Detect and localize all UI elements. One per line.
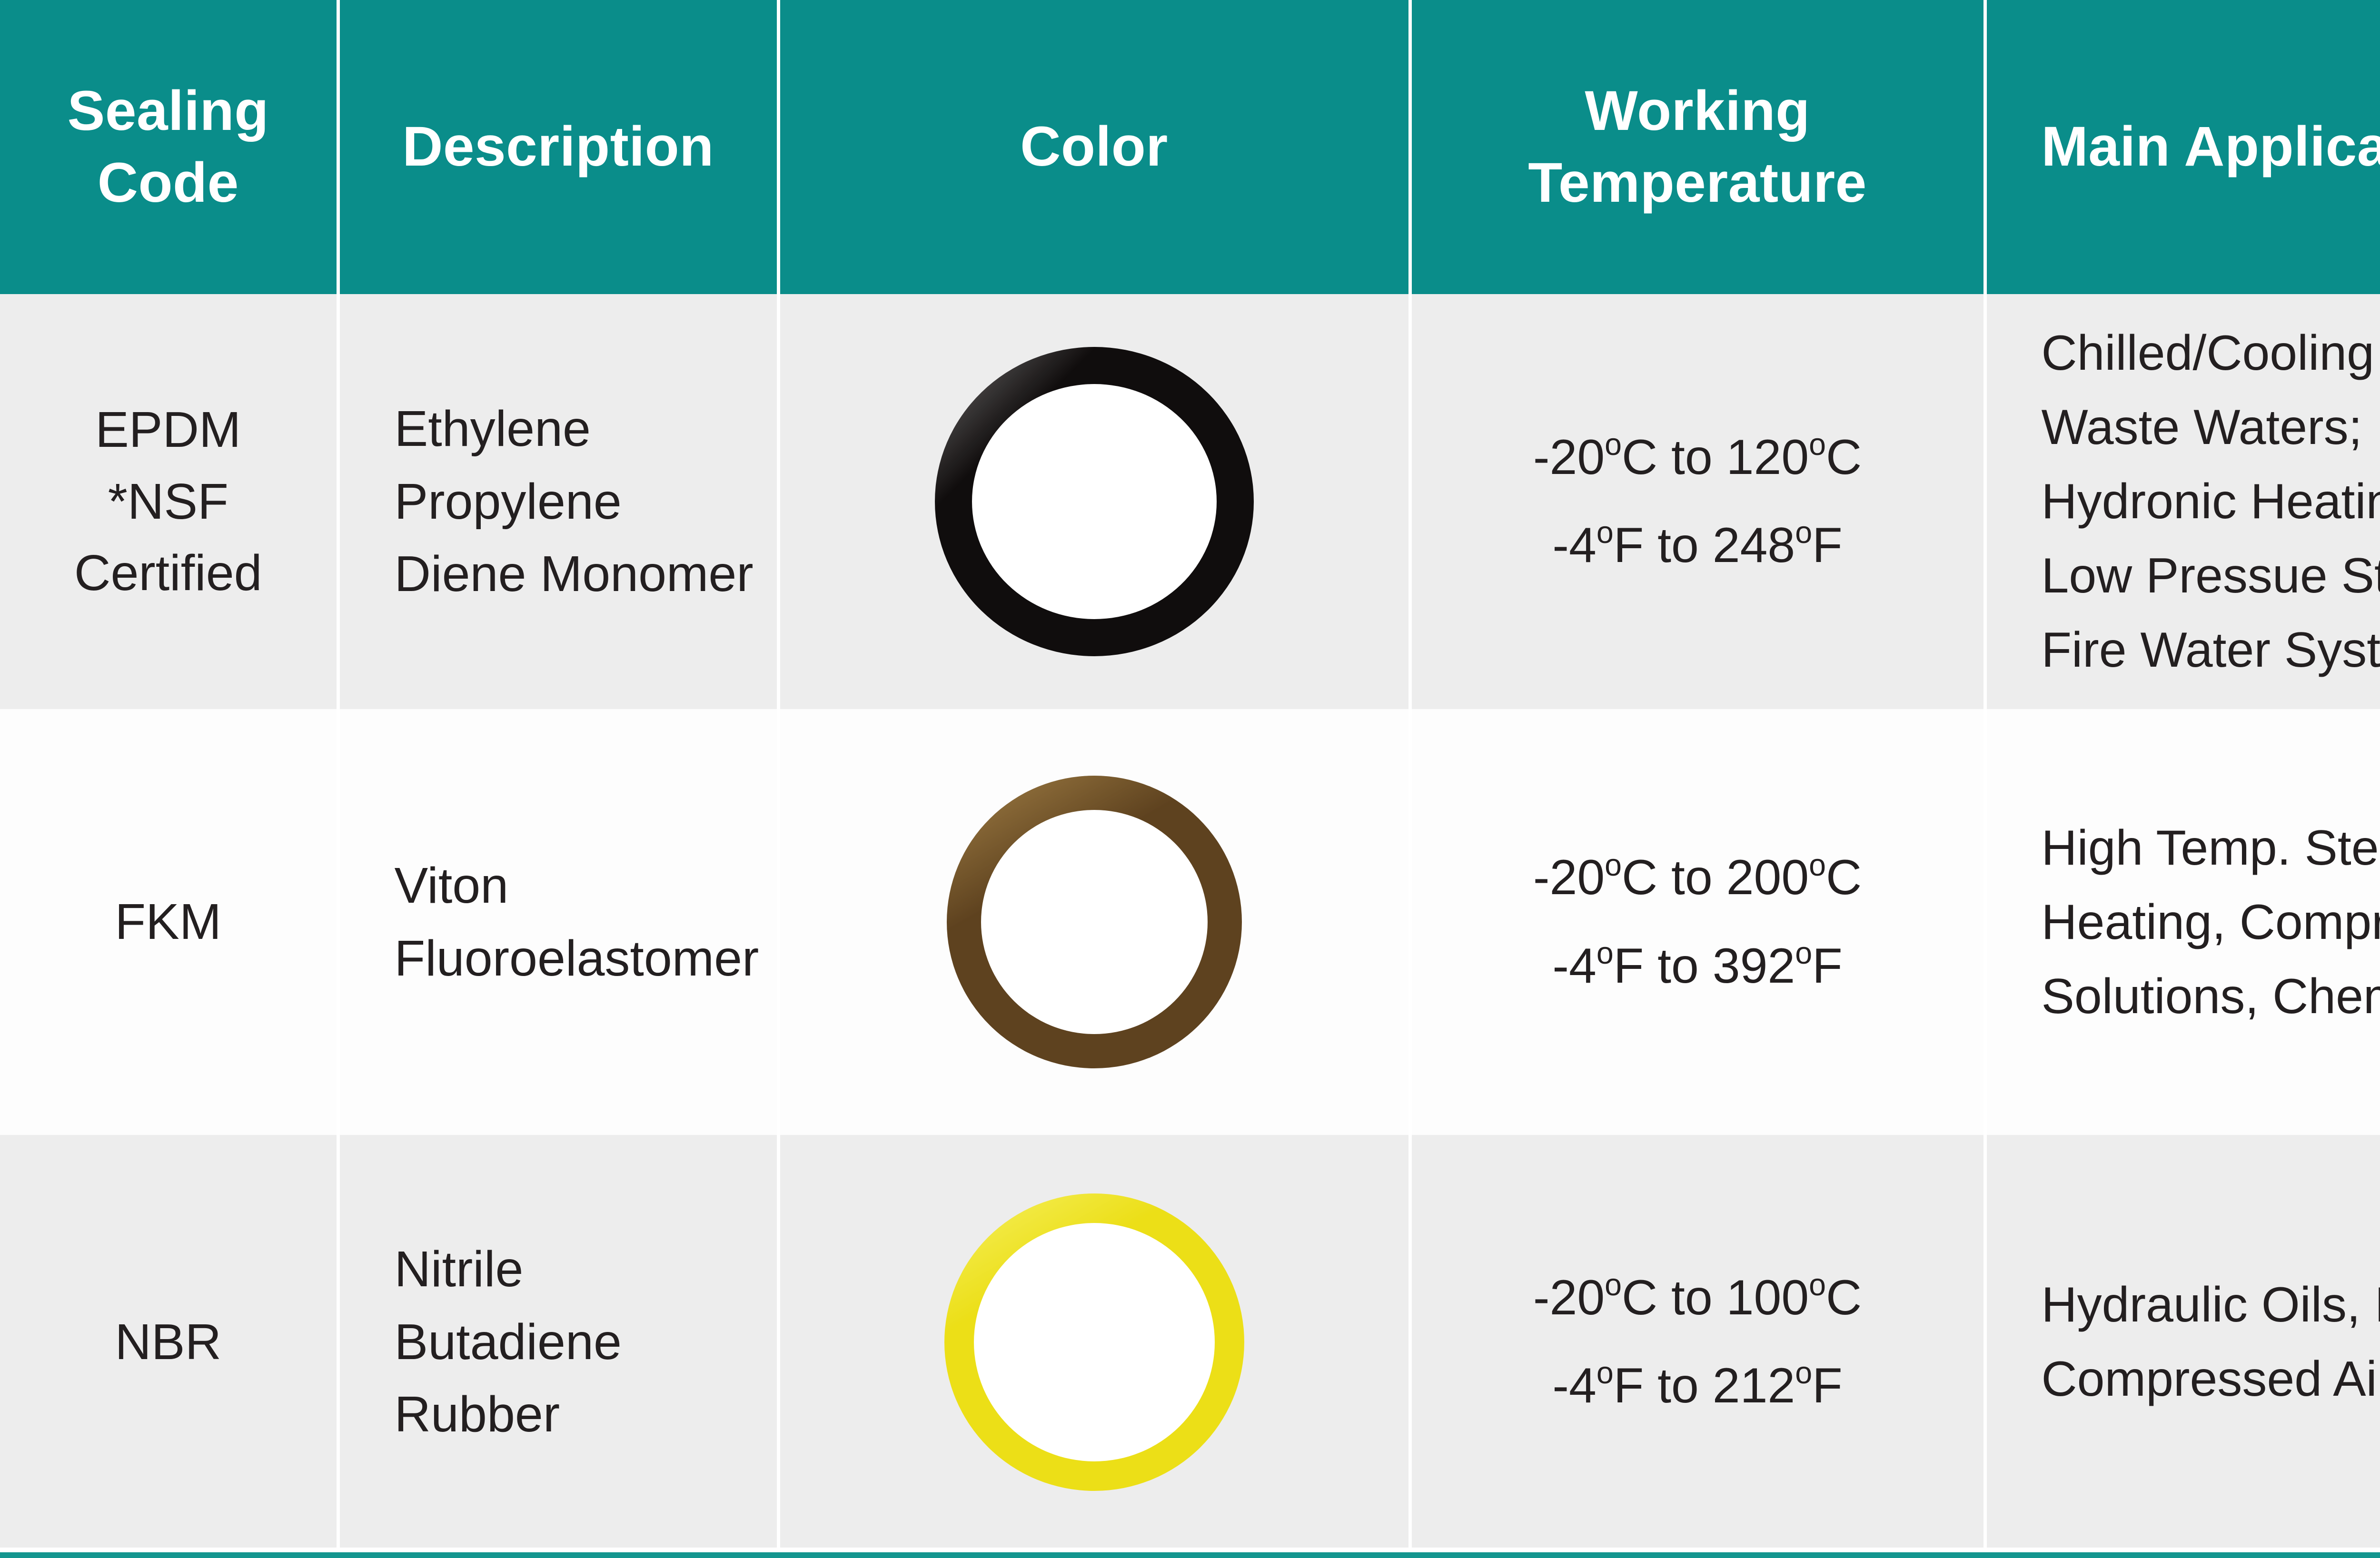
brown-o-ring-icon bbox=[947, 776, 1242, 1068]
temp-value: F to 212 bbox=[1614, 1358, 1795, 1413]
cell-sealing-code: FKM bbox=[0, 709, 338, 1135]
column-header-description: Description bbox=[338, 0, 778, 294]
o-ring-image-container bbox=[780, 709, 1408, 1135]
temp-value: F to 392 bbox=[1614, 938, 1795, 994]
degree-symbol: o bbox=[1809, 1268, 1826, 1302]
description-line: Rubber bbox=[395, 1378, 764, 1451]
header-label-line1: Color bbox=[791, 111, 1398, 183]
description-line: Viton bbox=[395, 849, 764, 922]
temp-value: C to 200 bbox=[1622, 850, 1809, 905]
degree-symbol: o bbox=[1795, 1356, 1812, 1390]
medium-line: Low Pressue Steam; bbox=[2042, 539, 2380, 613]
sealing-material-comparison-table: Sealing Code Description Color Working T… bbox=[0, 0, 2380, 1558]
cell-color bbox=[778, 1135, 1410, 1549]
temperature-celsius: -20oC to 200oC bbox=[1424, 834, 1971, 922]
degree-symbol: o bbox=[1809, 427, 1826, 462]
temp-unit: F bbox=[1812, 1358, 1843, 1413]
black-o-ring-icon bbox=[935, 347, 1254, 656]
temp-value: -20 bbox=[1533, 850, 1605, 905]
temperature-celsius: -20oC to 100oC bbox=[1424, 1254, 1971, 1342]
medium-line: Chilled/Cooling Water; bbox=[2042, 316, 2380, 390]
cell-description: Nitrile Butadiene Rubber bbox=[338, 1135, 778, 1549]
cell-description: Viton Fluoroelastomer bbox=[338, 709, 778, 1135]
sealing-code-primary: FKM bbox=[12, 886, 324, 958]
medium-line: Solutions, Chemicals, Inert Gases. bbox=[2042, 959, 2380, 1034]
table-row-nbr: NBR Nitrile Butadiene Rubber -20oC to 10… bbox=[0, 1135, 2380, 1549]
temp-value: C to 100 bbox=[1622, 1270, 1809, 1325]
column-header-main-applicable-medium: Main Applicable Medium bbox=[1985, 0, 2380, 294]
medium-line: Compressed Air, Lubricants. bbox=[2042, 1342, 2380, 1416]
degree-symbol: o bbox=[1597, 515, 1614, 550]
cell-color bbox=[778, 709, 1410, 1135]
degree-symbol: o bbox=[1605, 1268, 1622, 1302]
header-row: Sealing Code Description Color Working T… bbox=[0, 0, 2380, 294]
sealing-code-primary: NBR bbox=[12, 1306, 324, 1378]
temp-value: -4 bbox=[1552, 1358, 1596, 1413]
cell-working-temperature: -20oC to 120oC -4oF to 248oF bbox=[1410, 294, 1985, 709]
header-label-line1: Sealing bbox=[10, 75, 326, 147]
cell-sealing-code: EPDM *NSF Certified bbox=[0, 294, 338, 709]
temperature-fahrenheit: -4oF to 392oF bbox=[1424, 922, 1971, 1010]
medium-line: Hydraulic Oils, Inert Gases, bbox=[2042, 1268, 2380, 1342]
degree-symbol: o bbox=[1795, 936, 1812, 970]
table-body: EPDM *NSF Certified Ethylene Propylene D… bbox=[0, 294, 2380, 1549]
column-header-working-temperature: Working Temperature bbox=[1410, 0, 1985, 294]
table-header: Sealing Code Description Color Working T… bbox=[0, 0, 2380, 294]
sealing-specification-table: Sealing Code Description Color Working T… bbox=[0, 0, 2380, 1549]
yellow-o-ring-icon bbox=[944, 1193, 1244, 1491]
temp-value: -4 bbox=[1552, 938, 1596, 994]
bottom-gap bbox=[0, 1548, 2380, 1552]
temp-value: -20 bbox=[1533, 430, 1605, 485]
description-line: Ethylene bbox=[395, 393, 764, 465]
temp-unit: C bbox=[1826, 850, 1862, 905]
header-label-line2: Code bbox=[10, 147, 326, 219]
temp-value: F to 248 bbox=[1614, 518, 1795, 573]
temperature-fahrenheit: -4oF to 212oF bbox=[1424, 1342, 1971, 1430]
cell-main-applicable-medium: High Temp. Steam & Gas, Solar, Heating, … bbox=[1985, 709, 2380, 1135]
temperature-celsius: -20oC to 120oC bbox=[1424, 414, 1971, 502]
table-row-fkm: FKM Viton Fluoroelastomer -20oC to 200oC… bbox=[0, 709, 2380, 1135]
degree-symbol: o bbox=[1605, 427, 1622, 462]
temp-value: C to 120 bbox=[1622, 430, 1809, 485]
medium-line: Fire Water System. bbox=[2042, 613, 2380, 687]
medium-line: Heating, Compressed Air, Acid bbox=[2042, 885, 2380, 959]
description-line: Fluoroelastomer bbox=[395, 922, 764, 995]
temp-value: -4 bbox=[1552, 518, 1596, 573]
description-line: Nitrile Butadiene bbox=[395, 1233, 764, 1378]
cell-working-temperature: -20oC to 200oC -4oF to 392oF bbox=[1410, 709, 1985, 1135]
degree-symbol: o bbox=[1605, 848, 1622, 882]
o-ring-image-container bbox=[780, 1135, 1408, 1549]
temp-unit: F bbox=[1812, 938, 1843, 994]
cell-description: Ethylene Propylene Diene Monomer bbox=[338, 294, 778, 709]
header-label-line2: Temperature bbox=[1422, 147, 1973, 219]
cell-color bbox=[778, 294, 1410, 709]
temp-unit: C bbox=[1826, 1270, 1862, 1325]
degree-symbol: o bbox=[1795, 515, 1812, 550]
medium-line: High Temp. Steam & Gas, Solar, bbox=[2042, 811, 2380, 885]
column-header-color: Color bbox=[778, 0, 1410, 294]
header-label-line1: Working bbox=[1422, 75, 1973, 147]
sealing-code-note: *NSF Certified bbox=[12, 466, 324, 609]
degree-symbol: o bbox=[1597, 1356, 1614, 1390]
description-line: Propylene bbox=[395, 465, 764, 538]
header-label-line1: Main Applicable Medium bbox=[2042, 111, 2380, 183]
sealing-code-primary: EPDM bbox=[12, 394, 324, 466]
cell-main-applicable-medium: Chilled/Cooling Water; Waste Waters; Hyd… bbox=[1985, 294, 2380, 709]
medium-line: Waste Waters; bbox=[2042, 390, 2380, 464]
degree-symbol: o bbox=[1809, 848, 1826, 882]
cell-sealing-code: NBR bbox=[0, 1135, 338, 1549]
temp-unit: C bbox=[1826, 430, 1862, 485]
temp-value: -20 bbox=[1533, 1270, 1605, 1325]
cell-working-temperature: -20oC to 100oC -4oF to 212oF bbox=[1410, 1135, 1985, 1549]
column-header-sealing-code: Sealing Code bbox=[0, 0, 338, 294]
bottom-accent-rule bbox=[0, 1552, 2380, 1558]
medium-line: Hydronic Heating; bbox=[2042, 464, 2380, 539]
header-label-line1: Description bbox=[350, 111, 766, 183]
o-ring-image-container bbox=[780, 294, 1408, 709]
temp-unit: F bbox=[1812, 518, 1843, 573]
description-line: Diene Monomer bbox=[395, 538, 764, 611]
temperature-fahrenheit: -4oF to 248oF bbox=[1424, 502, 1971, 590]
degree-symbol: o bbox=[1597, 936, 1614, 970]
cell-main-applicable-medium: Hydraulic Oils, Inert Gases, Compressed … bbox=[1985, 1135, 2380, 1549]
table-row-epdm: EPDM *NSF Certified Ethylene Propylene D… bbox=[0, 294, 2380, 709]
